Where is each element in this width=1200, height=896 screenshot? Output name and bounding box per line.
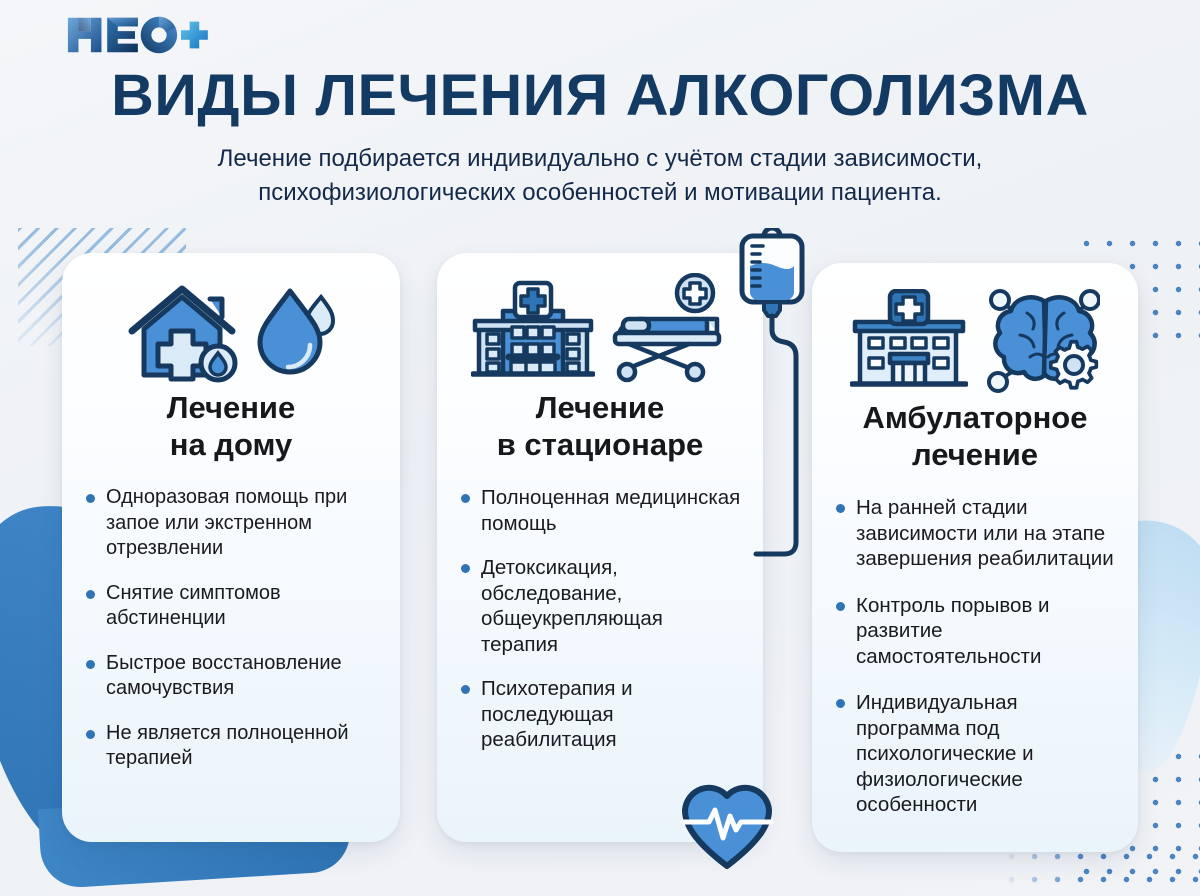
water-drop-icon xyxy=(252,283,336,383)
logo-text: НЕО+ xyxy=(0,0,1,1)
list-item: Индивидуальная программа под психологиче… xyxy=(834,690,1116,818)
list-item: Не является полноценной терапией xyxy=(84,721,378,772)
card-title-line-2: лечение xyxy=(834,436,1116,473)
card-title-line-1: Амбулаторное xyxy=(834,399,1116,436)
clinic-building-icon xyxy=(850,289,968,393)
infographic-canvas: НЕО+ НЕО+ ВИДЫ ЛЕЧЕНИЯ АЛКОГОЛИЗМА Лечен… xyxy=(0,0,1200,896)
list-item: Психотерапия и последующая реабилитация xyxy=(459,676,741,753)
list-item: Полноценная медицинская помощь xyxy=(459,485,741,536)
page-subtitle: Лечение подбирается индивидуально с учёт… xyxy=(80,142,1120,210)
card-title: Амбулаторное лечение xyxy=(834,399,1116,473)
card-title-line-2: в стационаре xyxy=(459,426,741,463)
heart-pulse-decor xyxy=(679,778,775,874)
card-title: Лечение на дому xyxy=(84,389,378,463)
card-icon-group xyxy=(834,263,1116,393)
neo-plus-logo xyxy=(66,12,210,58)
home-medical-icon xyxy=(126,279,238,383)
subtitle-line-1: Лечение подбирается индивидуально с учёт… xyxy=(80,142,1120,176)
card-bullet-list: Одноразовая помощь при запое или экстрен… xyxy=(84,485,378,772)
list-item: Быстрое восстановление самочувствия xyxy=(84,651,378,702)
card-bullet-list: Полноценная медицинская помощь Детоксика… xyxy=(459,485,741,753)
treatment-card-home[interactable]: Лечение на дому Одноразовая помощь при з… xyxy=(62,253,400,842)
page-title: ВИДЫ ЛЕЧЕНИЯ АЛКОГОЛИЗМА xyxy=(0,62,1200,129)
iv-drip-bag-icon xyxy=(728,228,824,568)
treatment-card-inpatient[interactable]: Лечение в стационаре Полноценная медицин… xyxy=(437,253,763,842)
list-item: Одноразовая помощь при запое или экстрен… xyxy=(84,485,378,562)
brain-gear-icon xyxy=(982,287,1100,393)
card-bullet-list: На ранней стадии зависимости или на этап… xyxy=(834,495,1116,818)
list-item: На ранней стадии зависимости или на этап… xyxy=(834,495,1116,572)
list-item: Детоксикация, обследование, общеукрепляю… xyxy=(459,555,741,657)
logo-text-value: НЕО+ xyxy=(0,0,1,1)
card-title-line-1: Лечение xyxy=(84,389,378,426)
card-title: Лечение в стационаре xyxy=(459,389,741,463)
list-item: Снятие симптомов абстиненции xyxy=(84,581,378,632)
card-title-line-1: Лечение xyxy=(459,389,741,426)
subtitle-line-2: психофизиологических особенностей и моти… xyxy=(80,176,1120,210)
iv-drip-decor xyxy=(728,228,824,568)
list-item: Контроль порывов и развитие самостоятель… xyxy=(834,593,1116,670)
card-icon-group xyxy=(84,253,378,383)
heart-pulse-icon xyxy=(679,778,775,874)
treatment-card-outpatient[interactable]: Амбулаторное лечение На ранней стадии за… xyxy=(812,263,1138,852)
hospital-building-icon xyxy=(471,279,595,383)
hospital-stretcher-icon xyxy=(609,273,729,383)
card-title-line-2: на дому xyxy=(84,426,378,463)
card-icon-group xyxy=(459,253,741,383)
